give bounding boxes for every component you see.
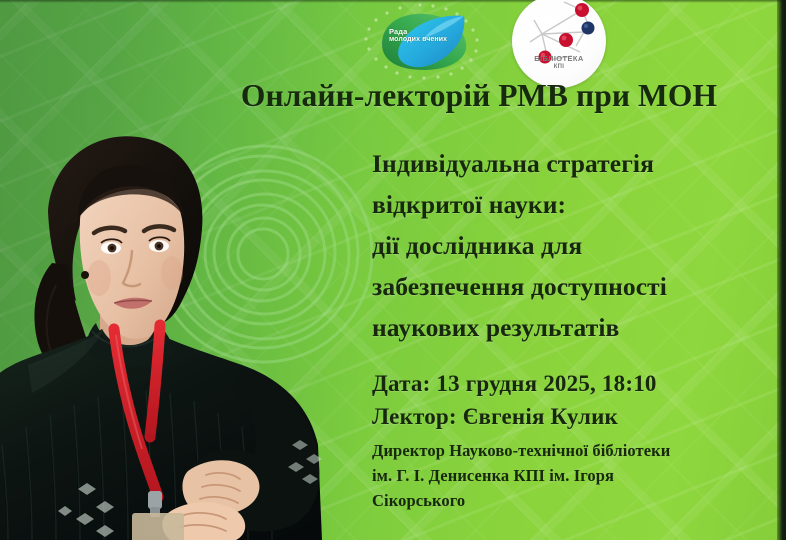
lecture-subject-line-2: відкритої науки: [372,184,776,225]
kpi-library-logo-text-line1: БІБЛІОТЕКА [512,54,606,63]
logo-row: Рада молодих вчених [358,2,606,86]
kpi-library-logo-disc [512,0,606,88]
right-edge-strip [777,0,786,540]
lecture-date: Дата: 13 грудня 2025, 18:10 [372,367,776,400]
poster-headline: Онлайн-лекторій РМВ при МОН [186,78,772,114]
kpi-library-logo: БІБЛІОТЕКА КПІ [512,2,606,86]
kpi-library-logo-network-mark [512,0,606,88]
lecturer-affiliation-line-1: Директор Науково-технічної бібліотеки [372,438,776,463]
poster-canvas: Рада молодих вчених [0,0,786,540]
lecture-subject-line-3: дії дослідника для [372,225,776,266]
lecture-subject-line-4: забезпечення доступності [372,266,776,307]
kpi-library-logo-text: БІБЛІОТЕКА КПІ [512,54,606,70]
kpi-library-logo-text-line2: КПІ [512,64,606,70]
lecture-subject-line-1: Індивідуальна стратегія [372,143,776,184]
rmv-logo-text-line2: молодих [389,36,420,43]
poster-text-block: Індивідуальна стратегія відкритої науки:… [372,143,776,513]
rmv-logo-text-line3: вчених [422,36,447,43]
rmv-logo-text-line1: Рада [389,28,449,36]
speaker-photo [0,115,362,540]
lecture-lecturer: Лектор: Євгенія Кулик [372,400,776,433]
lecture-subject-line-5: наукових результатів [372,307,776,348]
lecturer-affiliation-line-3: Сікорського [372,488,776,513]
rmv-logo: Рада молодих вчених [358,2,482,80]
lecturer-affiliation-line-2: ім. Г. І. Денисенка КПІ ім. Ігоря [372,463,776,488]
lecture-subject: Індивідуальна стратегія відкритої науки:… [372,143,776,348]
lecture-meta: Дата: 13 грудня 2025, 18:10 Лектор: Євге… [372,367,776,513]
lecturer-affiliation: Директор Науково-технічної бібліотеки ім… [372,438,776,513]
rmv-logo-text: Рада молодих вчених [389,28,449,43]
